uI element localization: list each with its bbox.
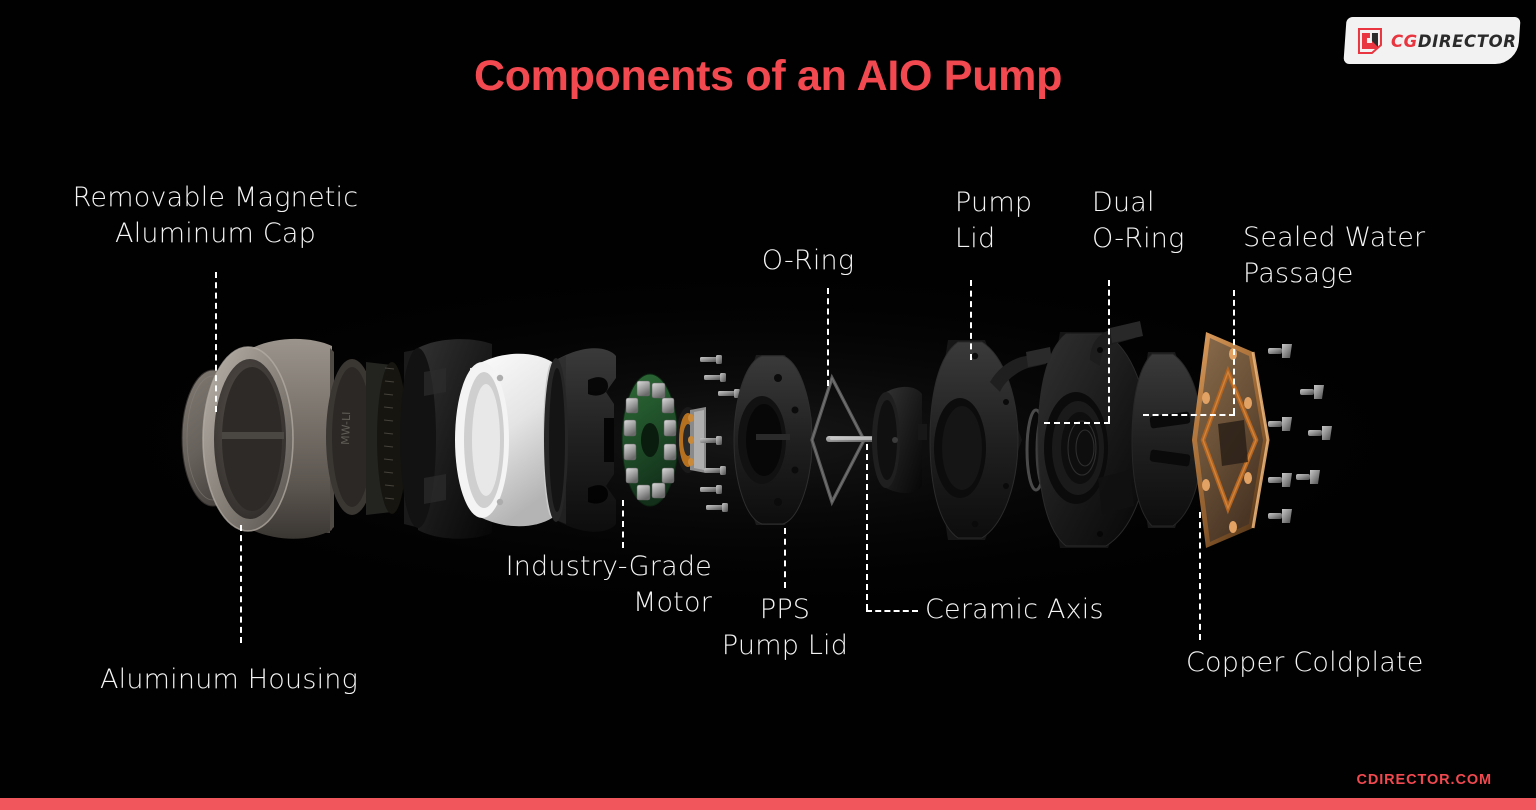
cgdirector-logo[interactable]: CGDIRECTOR bbox=[1343, 17, 1520, 64]
label-o-ring: O-Ring bbox=[738, 243, 878, 279]
svg-text:MW-LI: MW-LI bbox=[339, 411, 353, 445]
label-pump-lid: Pump Lid bbox=[955, 185, 1065, 256]
leader-line-o-ring bbox=[827, 288, 829, 386]
logo-cg-text: CG bbox=[1391, 31, 1418, 50]
cgdirector-g-mark-icon bbox=[1356, 27, 1384, 55]
label-industry-grade-motor: Industry-Grade Motor bbox=[440, 549, 712, 620]
label-copper-coldplate: Copper Coldplate bbox=[1186, 645, 1506, 681]
part-motor-body bbox=[544, 348, 616, 532]
part-retaining-ring: MW-LI bbox=[326, 359, 407, 515]
label-aluminum-housing: Aluminum Housing bbox=[100, 662, 430, 698]
footer-url[interactable]: CDIRECTOR.COM bbox=[1357, 772, 1493, 788]
label-removable-magnetic-aluminum-cap: Removable Magnetic Aluminum Cap bbox=[43, 180, 388, 251]
part-aluminum-housing bbox=[203, 339, 334, 539]
leader-line-magnetic-cap bbox=[215, 272, 217, 412]
diagram-canvas: MW-LI bbox=[0, 0, 1536, 810]
leader-line-dual-o-ring-stem bbox=[1108, 280, 1110, 422]
part-rotor bbox=[872, 387, 927, 493]
label-dual-o-ring: Dual O-Ring bbox=[1092, 185, 1222, 256]
leader-line-ceramic-axis-stem bbox=[866, 444, 868, 610]
part-stator-pcb bbox=[622, 374, 678, 506]
label-pps-pump-lid: PPS Pump Lid bbox=[690, 592, 880, 663]
footer-accent-bar bbox=[0, 798, 1536, 810]
leader-line-copper-coldplate bbox=[1199, 512, 1201, 640]
logo-director-text: DIRECTOR bbox=[1418, 31, 1517, 50]
cgdirector-wordmark: CGDIRECTOR bbox=[1391, 31, 1517, 50]
page-title: Components of an AIO Pump bbox=[0, 52, 1536, 101]
leader-line-sealed-water-arm bbox=[1143, 414, 1235, 416]
leader-line-sealed-water-stem bbox=[1233, 290, 1235, 414]
leader-line-dual-o-ring-arm bbox=[1044, 422, 1110, 424]
part-copper-coldplate bbox=[1192, 332, 1268, 548]
leader-line-pump-lid bbox=[970, 280, 972, 360]
leader-line-pps-pump-lid bbox=[784, 528, 786, 588]
leader-line-aluminum-housing bbox=[240, 525, 242, 643]
label-sealed-water-passage: Sealed Water Passage bbox=[1243, 220, 1493, 291]
label-ceramic-axis: Ceramic Axis bbox=[925, 592, 1155, 628]
leader-line-motor bbox=[622, 500, 624, 548]
part-pps-pump-lid bbox=[734, 355, 812, 525]
